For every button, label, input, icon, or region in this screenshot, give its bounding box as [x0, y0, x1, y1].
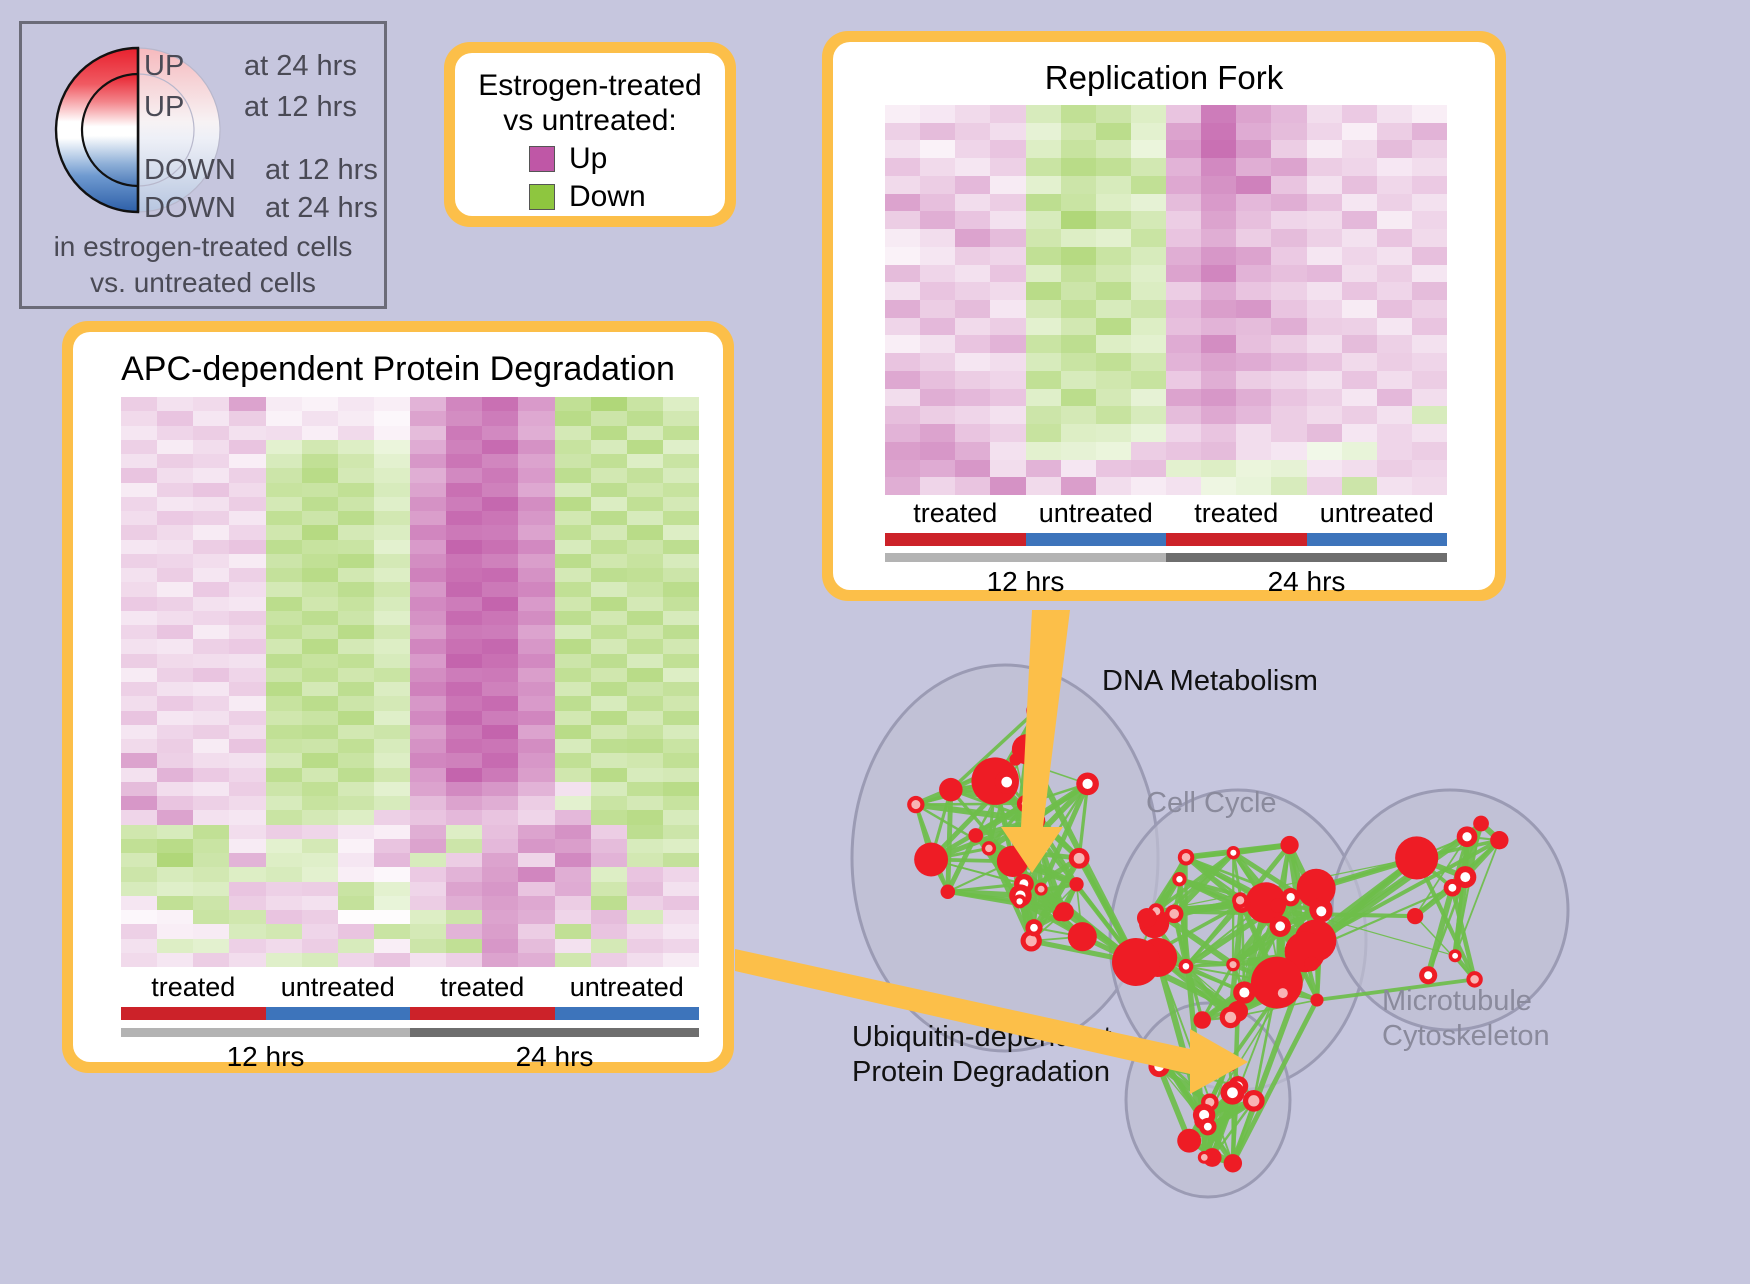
- heatmap-cell: [518, 668, 554, 682]
- heatmap-cell: [518, 768, 554, 782]
- heatmap-cell: [302, 682, 338, 696]
- down-swatch-icon: [529, 184, 555, 210]
- heatmap-cell: [266, 497, 302, 511]
- heatmap-cell: [482, 426, 518, 440]
- heatmap-cell: [193, 825, 229, 839]
- heatmap-cell: [885, 265, 920, 283]
- heatmap-cell: [1236, 140, 1271, 158]
- heatmap-cell: [1096, 194, 1131, 212]
- heatmap-cell: [663, 782, 699, 796]
- heatmap-cell: [266, 511, 302, 525]
- heatmap-cell: [1342, 371, 1377, 389]
- heatmap-cell: [1061, 194, 1096, 212]
- heatmap-cell: [555, 497, 591, 511]
- heatmap-cell: [374, 839, 410, 853]
- heatmap-cell: [193, 753, 229, 767]
- network-node: [1407, 908, 1423, 924]
- heatmap-cell: [955, 389, 990, 407]
- heatmap-cell: [266, 753, 302, 767]
- heatmap-cell: [266, 440, 302, 454]
- heatmap-cell: [121, 582, 157, 596]
- heatmap-cell: [627, 468, 663, 482]
- heatmap-cell: [591, 953, 627, 967]
- heatmap-cell: [446, 540, 482, 554]
- heatmap-cell: [990, 105, 1025, 123]
- heatmap-cell: [555, 554, 591, 568]
- heatmap-cell: [157, 440, 193, 454]
- heatmap-cell: [663, 939, 699, 953]
- heatmap-cell: [482, 468, 518, 482]
- heatmap-cell: [1377, 406, 1412, 424]
- heatmap-cell: [1307, 211, 1342, 229]
- heatmap-cell: [1061, 158, 1096, 176]
- heatmap-cell: [193, 597, 229, 611]
- heatmap-cell: [627, 497, 663, 511]
- heatmap-cell: [302, 426, 338, 440]
- heatmap-cell: [121, 939, 157, 953]
- heatmap-cell: [1096, 353, 1131, 371]
- heatmap-cell: [1131, 282, 1166, 300]
- heatmap-cell: [591, 611, 627, 625]
- heatmap-cell: [1412, 406, 1447, 424]
- heatmap-cell: [121, 440, 157, 454]
- heatmap-cell: [990, 158, 1025, 176]
- heatmap-cell: [555, 711, 591, 725]
- heatmap-cell: [1236, 460, 1271, 478]
- heatmap-cell: [663, 511, 699, 525]
- heatmap-cell: [1131, 406, 1166, 424]
- heatmap-cell: [1166, 335, 1201, 353]
- heatmap-cell: [266, 953, 302, 967]
- heatmap-cell: [627, 882, 663, 896]
- heatmap-cell: [446, 939, 482, 953]
- heatmap-cell: [266, 810, 302, 824]
- heatmap-cell: [302, 411, 338, 425]
- heatmap-cell: [1166, 424, 1201, 442]
- heatmap-cell: [920, 353, 955, 371]
- heatmap-cell: [518, 839, 554, 853]
- heatmap-cell: [229, 654, 265, 668]
- heatmap-cell: [627, 568, 663, 582]
- heatmap-cell: [193, 540, 229, 554]
- heatmap-cell: [1131, 424, 1166, 442]
- heatmap-cell: [955, 442, 990, 460]
- heatmap-cell: [338, 483, 374, 497]
- heatmap-cell: [920, 371, 955, 389]
- group-label-1: untreated: [266, 972, 411, 1003]
- heatmap-cell: [1166, 318, 1201, 336]
- heatmap-cell: [1412, 105, 1447, 123]
- heatmap-cell: [1236, 371, 1271, 389]
- heatmap-cell: [482, 525, 518, 539]
- heatmap-cell: [1026, 194, 1061, 212]
- network-node-core: [1038, 886, 1045, 893]
- heatmap-cell: [1271, 442, 1306, 460]
- network-node: [1137, 908, 1157, 928]
- heatmap-cell: [482, 739, 518, 753]
- heatmap-cell: [518, 511, 554, 525]
- heatmap-cell: [338, 654, 374, 668]
- heatmap-cell: [1131, 477, 1166, 495]
- heatmap-cell: [374, 654, 410, 668]
- heatmap-cell: [1271, 424, 1306, 442]
- heatmap-cell: [1342, 229, 1377, 247]
- heatmap-cell: [1096, 282, 1131, 300]
- heatmap-cell: [121, 924, 157, 938]
- heatmap-cell: [1166, 282, 1201, 300]
- heatmap-cell: [955, 477, 990, 495]
- heatmap-cell: [266, 525, 302, 539]
- heatmap-cell: [446, 511, 482, 525]
- heatmap-cell: [193, 582, 229, 596]
- heatmap-cell: [591, 668, 627, 682]
- network-node: [1055, 902, 1074, 921]
- heatmap-cell: [121, 867, 157, 881]
- heatmap-cell: [1061, 353, 1096, 371]
- heatmap-cell: [446, 739, 482, 753]
- heatmap-cell: [591, 867, 627, 881]
- heatmap-cell: [482, 511, 518, 525]
- heatmap-cell: [266, 639, 302, 653]
- heatmap-cell: [482, 654, 518, 668]
- heatmap-cell: [157, 668, 193, 682]
- heatmap-cell: [338, 939, 374, 953]
- heatmap-cell: [229, 497, 265, 511]
- apc-group-labels: treated untreated treated untreated: [121, 972, 699, 1003]
- heatmap-cell: [121, 796, 157, 810]
- heatmap-cell: [955, 123, 990, 141]
- heatmap-cell: [482, 411, 518, 425]
- heatmap-cell: [955, 194, 990, 212]
- heatmap-cell: [121, 483, 157, 497]
- heatmap-cell: [1236, 353, 1271, 371]
- heatmap-cell: [990, 335, 1025, 353]
- network-node-core: [1201, 1154, 1208, 1161]
- heatmap-cell: [410, 739, 446, 753]
- heatmap-cell: [157, 511, 193, 525]
- heatmap-cell: [121, 910, 157, 924]
- heatmap-cell: [1271, 158, 1306, 176]
- heatmap-cell: [627, 397, 663, 411]
- heatmap-cell: [229, 711, 265, 725]
- heatmap-cell: [990, 265, 1025, 283]
- heatmap-cell: [1201, 176, 1236, 194]
- heatmap-cell: [518, 497, 554, 511]
- heatmap-cell: [663, 639, 699, 653]
- heatmap-cell: [1131, 265, 1166, 283]
- heatmap-cell: [1166, 194, 1201, 212]
- heatmap-cell: [266, 597, 302, 611]
- heatmap-cell: [193, 882, 229, 896]
- heatmap-cell: [266, 582, 302, 596]
- heatmap-cell: [885, 371, 920, 389]
- heatmap-cell: [1026, 211, 1061, 229]
- heatmap-cell: [157, 867, 193, 881]
- heatmap-cell: [1131, 229, 1166, 247]
- heatmap-cell: [193, 939, 229, 953]
- heatmap-cell: [482, 483, 518, 497]
- heatmap-cell: [1201, 265, 1236, 283]
- heatmap-cell: [157, 810, 193, 824]
- heatmap-cell: [1342, 265, 1377, 283]
- heatmap-cell: [193, 725, 229, 739]
- heatmap-cell: [193, 497, 229, 511]
- heatmap-cell: [446, 725, 482, 739]
- heatmap-cell: [266, 540, 302, 554]
- heatmap-cell: [1307, 353, 1342, 371]
- heatmap-cell: [302, 440, 338, 454]
- heatmap-cell: [446, 867, 482, 881]
- heatmap-cell: [410, 810, 446, 824]
- heatmap-cell: [663, 625, 699, 639]
- heatmap-cell: [591, 939, 627, 953]
- heatmap-cell: [920, 318, 955, 336]
- heatmap-cell: [1377, 424, 1412, 442]
- heatmap-cell: [302, 454, 338, 468]
- heatmap-cell: [1412, 353, 1447, 371]
- heatmap-cell: [374, 825, 410, 839]
- network-node: [1009, 753, 1021, 765]
- heatmap-cell: [302, 582, 338, 596]
- heatmap-cell: [302, 668, 338, 682]
- heatmap-cell: [663, 896, 699, 910]
- heatmap-cell: [955, 140, 990, 158]
- heatmap-cell: [410, 568, 446, 582]
- heatmap-cell: [338, 924, 374, 938]
- heatmap-cell: [1342, 353, 1377, 371]
- heatmap-cell: [266, 867, 302, 881]
- heatmap-cell: [482, 597, 518, 611]
- heatmap-cell: [410, 682, 446, 696]
- heatmap-cell: [627, 540, 663, 554]
- heatmap-cell: [157, 411, 193, 425]
- condition-segment-untreated: [1307, 533, 1448, 546]
- heatmap-cell: [1131, 194, 1166, 212]
- heatmap-cell: [1342, 123, 1377, 141]
- time-label-1: 24 hrs: [1166, 566, 1447, 598]
- heatmap-cell: [1131, 140, 1166, 158]
- heatmap-cell: [1236, 406, 1271, 424]
- heatmap-cell: [266, 468, 302, 482]
- heatmap-cell: [410, 639, 446, 653]
- heatmap-cell: [1166, 442, 1201, 460]
- heatmap-cell: [518, 625, 554, 639]
- heatmap-cell: [920, 105, 955, 123]
- heatmap-cell: [302, 882, 338, 896]
- heatmap-cell: [627, 625, 663, 639]
- heatmap-cell: [518, 554, 554, 568]
- heatmap-cell: [338, 825, 374, 839]
- heatmap-cell: [1201, 460, 1236, 478]
- heatmap-cell: [990, 389, 1025, 407]
- heatmap-cell: [1131, 123, 1166, 141]
- heatmap-cell: [193, 483, 229, 497]
- heatmap-cell: [518, 853, 554, 867]
- heatmap-cell: [302, 753, 338, 767]
- heatmap-cell: [229, 568, 265, 582]
- heatmap-cell: [627, 825, 663, 839]
- cluster-label-mt-line2: Cytoskeleton: [1382, 1019, 1550, 1054]
- heatmap-cell: [410, 753, 446, 767]
- heatmap-cell: [446, 611, 482, 625]
- heatmap-cell: [302, 825, 338, 839]
- heatmap-cell: [157, 611, 193, 625]
- heatmap-cell: [410, 696, 446, 710]
- heatmap-cell: [410, 454, 446, 468]
- heatmap-cell: [121, 568, 157, 582]
- network-node-core: [1225, 1012, 1236, 1023]
- heatmap-cell: [990, 424, 1025, 442]
- heatmap-cell: [338, 796, 374, 810]
- heatmap-cell: [1377, 300, 1412, 318]
- heatmap-cell: [482, 682, 518, 696]
- heatmap-cell: [157, 568, 193, 582]
- heatmap-cell: [1096, 123, 1131, 141]
- heatmap-cell: [1131, 318, 1166, 336]
- heatmap-cell: [157, 725, 193, 739]
- heatmap-cell: [229, 682, 265, 696]
- heatmap-cell: [446, 882, 482, 896]
- heatmap-cell: [663, 654, 699, 668]
- heatmap-cell: [627, 654, 663, 668]
- heatmap-cell: [1096, 105, 1131, 123]
- network-node-core: [1448, 884, 1456, 892]
- heatmap-cell: [591, 725, 627, 739]
- heatmap-cell: [121, 625, 157, 639]
- heatmap-cell: [1061, 318, 1096, 336]
- heatmap-cell: [518, 568, 554, 582]
- heatmap-cell: [338, 540, 374, 554]
- heatmap-cell: [1026, 300, 1061, 318]
- apc-panel: APC-dependent Protein Degradation treate…: [62, 321, 734, 1073]
- legend-direction-0: UP: [144, 50, 184, 83]
- network-node: [1280, 836, 1298, 854]
- heatmap-cell: [302, 483, 338, 497]
- heatmap-cell: [229, 910, 265, 924]
- condition-segment-untreated: [266, 1007, 411, 1020]
- heatmap-cell: [121, 468, 157, 482]
- heatmap-cell: [591, 568, 627, 582]
- heatmap-cell: [1271, 460, 1306, 478]
- heatmap-cell: [229, 839, 265, 853]
- heatmap-cell: [1166, 353, 1201, 371]
- heatmap-cell: [955, 105, 990, 123]
- heatmap-cell: [518, 483, 554, 497]
- heatmap-cell: [1096, 140, 1131, 158]
- heatmap-cell: [1307, 194, 1342, 212]
- heatmap-cell: [518, 924, 554, 938]
- heatmap-cell: [627, 711, 663, 725]
- heatmap-cell: [518, 639, 554, 653]
- heatmap-cell: [1412, 442, 1447, 460]
- heatmap-cell: [446, 682, 482, 696]
- heatmap-cell: [374, 397, 410, 411]
- heatmap-cell: [627, 682, 663, 696]
- network-node-core: [1022, 800, 1030, 808]
- heatmap-cell: [591, 654, 627, 668]
- heatmap-cell: [885, 211, 920, 229]
- heatmap-cell: [338, 411, 374, 425]
- heatmap-cell: [374, 454, 410, 468]
- heatmap-cell: [193, 853, 229, 867]
- heatmap-cell: [1307, 389, 1342, 407]
- heatmap-cell: [374, 782, 410, 796]
- apc-time-labels: 12 hrs 24 hrs: [121, 1041, 699, 1073]
- heatmap-cell: [266, 896, 302, 910]
- heatmap-cell: [663, 825, 699, 839]
- heatmap-cell: [410, 654, 446, 668]
- heatmap-cell: [955, 424, 990, 442]
- network-node: [1490, 831, 1508, 849]
- heatmap-cell: [1377, 229, 1412, 247]
- heatmap-cell: [1166, 247, 1201, 265]
- heatmap-cell: [1026, 406, 1061, 424]
- heatmap-cell: [555, 939, 591, 953]
- heatmap-cell: [482, 696, 518, 710]
- heatmap-cell: [920, 247, 955, 265]
- heatmap-cell: [885, 389, 920, 407]
- heatmap-cell: [1412, 140, 1447, 158]
- heatmap-cell: [1342, 389, 1377, 407]
- heatmap-cell: [229, 411, 265, 425]
- heatmap-cell: [229, 540, 265, 554]
- heatmap-cell: [229, 511, 265, 525]
- heatmap-cell: [1201, 194, 1236, 212]
- heatmap-cell: [518, 682, 554, 696]
- heatmap-cell: [374, 540, 410, 554]
- heatmap-cell: [1061, 123, 1096, 141]
- heatmap-cell: [920, 460, 955, 478]
- heatmap-cell: [518, 397, 554, 411]
- heatmap-cell: [266, 682, 302, 696]
- heatmap-cell: [1342, 140, 1377, 158]
- heatmap-cell: [121, 810, 157, 824]
- heatmap-cell: [121, 511, 157, 525]
- heatmap-cell: [121, 654, 157, 668]
- heatmap-cell: [885, 424, 920, 442]
- heatmap-cell: [229, 397, 265, 411]
- heatmap-cell: [1201, 424, 1236, 442]
- heatmap-cell: [446, 924, 482, 938]
- heatmap-cell: [374, 639, 410, 653]
- heatmap-cell: [920, 194, 955, 212]
- heatmap-cell: [446, 426, 482, 440]
- heatmap-cell: [374, 511, 410, 525]
- heatmap-cell: [266, 625, 302, 639]
- heatmap-cell: [885, 158, 920, 176]
- heatmap-cell: [229, 611, 265, 625]
- heatmap-cell: [555, 468, 591, 482]
- network-node: [1224, 1154, 1242, 1172]
- heatmap-cell: [338, 839, 374, 853]
- heatmap-cell: [338, 696, 374, 710]
- heatmap-cell: [555, 511, 591, 525]
- heatmap-cell: [1166, 300, 1201, 318]
- heatmap-cell: [229, 896, 265, 910]
- heatmap-cell: [1201, 371, 1236, 389]
- heatmap-cell: [1131, 335, 1166, 353]
- heatmap-cell: [885, 140, 920, 158]
- heatmap-cell: [1377, 318, 1412, 336]
- heatmap-cell: [1026, 105, 1061, 123]
- heatmap-cell: [157, 554, 193, 568]
- heatmap-cell: [338, 853, 374, 867]
- heatmap-cell: [663, 554, 699, 568]
- heatmap-cell: [410, 924, 446, 938]
- network-node: [1026, 701, 1045, 720]
- heatmap-cell: [266, 397, 302, 411]
- network-node-core: [1230, 850, 1236, 856]
